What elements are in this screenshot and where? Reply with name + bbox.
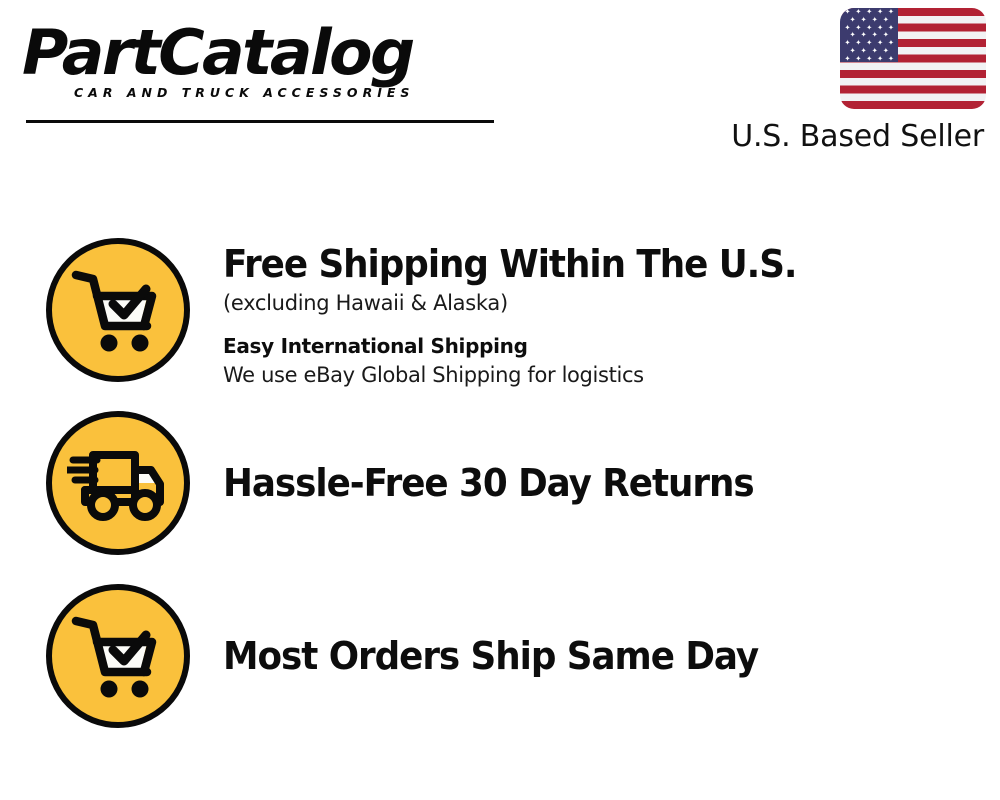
shopping-cart-check-icon [46,238,190,382]
brand-wordmark: PartCatalog [22,24,501,83]
feature-subhead-note: We use eBay Global Shipping for logistic… [223,361,1000,389]
us-flag-icon: ✦✦✦✦✦ ✦✦✦✦ ✦✦✦✦✦ ✦✦✦✦ ✦✦✦✦✦ ✦✦✦✦ ✦✦✦✦✦ [840,8,986,109]
feature-subline: (excluding Hawaii & Alaska) [223,289,1000,317]
feature-item: Hassle-Free 30 Day Returns [0,411,1000,584]
feature-headline: Free Shipping Within The U.S. [223,242,953,286]
feature-headline: Hassle-Free 30 Day Returns [223,461,953,505]
shopping-cart-check-icon [46,584,190,728]
us-based-seller-badge: ✦✦✦✦✦ ✦✦✦✦ ✦✦✦✦✦ ✦✦✦✦ ✦✦✦✦✦ ✦✦✦✦ ✦✦✦✦✦ U… [686,8,986,154]
feature-subhead: Easy International Shipping [223,333,1000,360]
brand-logo[interactable]: PartCatalog CAR AND TRUCK ACCESSORIES [22,24,492,100]
flag-star-row: ✦✦✦✦✦ [840,55,898,63]
flag-canton: ✦✦✦✦✦ ✦✦✦✦ ✦✦✦✦✦ ✦✦✦✦ ✦✦✦✦✦ ✦✦✦✦ ✦✦✦✦✦ [840,8,898,62]
delivery-truck-icon [46,411,190,555]
feature-text-block: Free Shipping Within The U.S. (excluding… [223,238,1000,389]
feature-text-block: Hassle-Free 30 Day Returns [223,411,1000,505]
feature-list: Free Shipping Within The U.S. (excluding… [0,238,1000,757]
feature-item: Free Shipping Within The U.S. (excluding… [0,238,1000,411]
page-header: PartCatalog CAR AND TRUCK ACCESSORIES ✦✦… [0,0,1000,170]
feature-item: Most Orders Ship Same Day [0,584,1000,757]
feature-text-block: Most Orders Ship Same Day [223,584,1000,678]
brand-underline [26,120,494,123]
us-based-seller-label: U.S. Based Seller [686,120,984,154]
feature-headline: Most Orders Ship Same Day [223,634,953,678]
